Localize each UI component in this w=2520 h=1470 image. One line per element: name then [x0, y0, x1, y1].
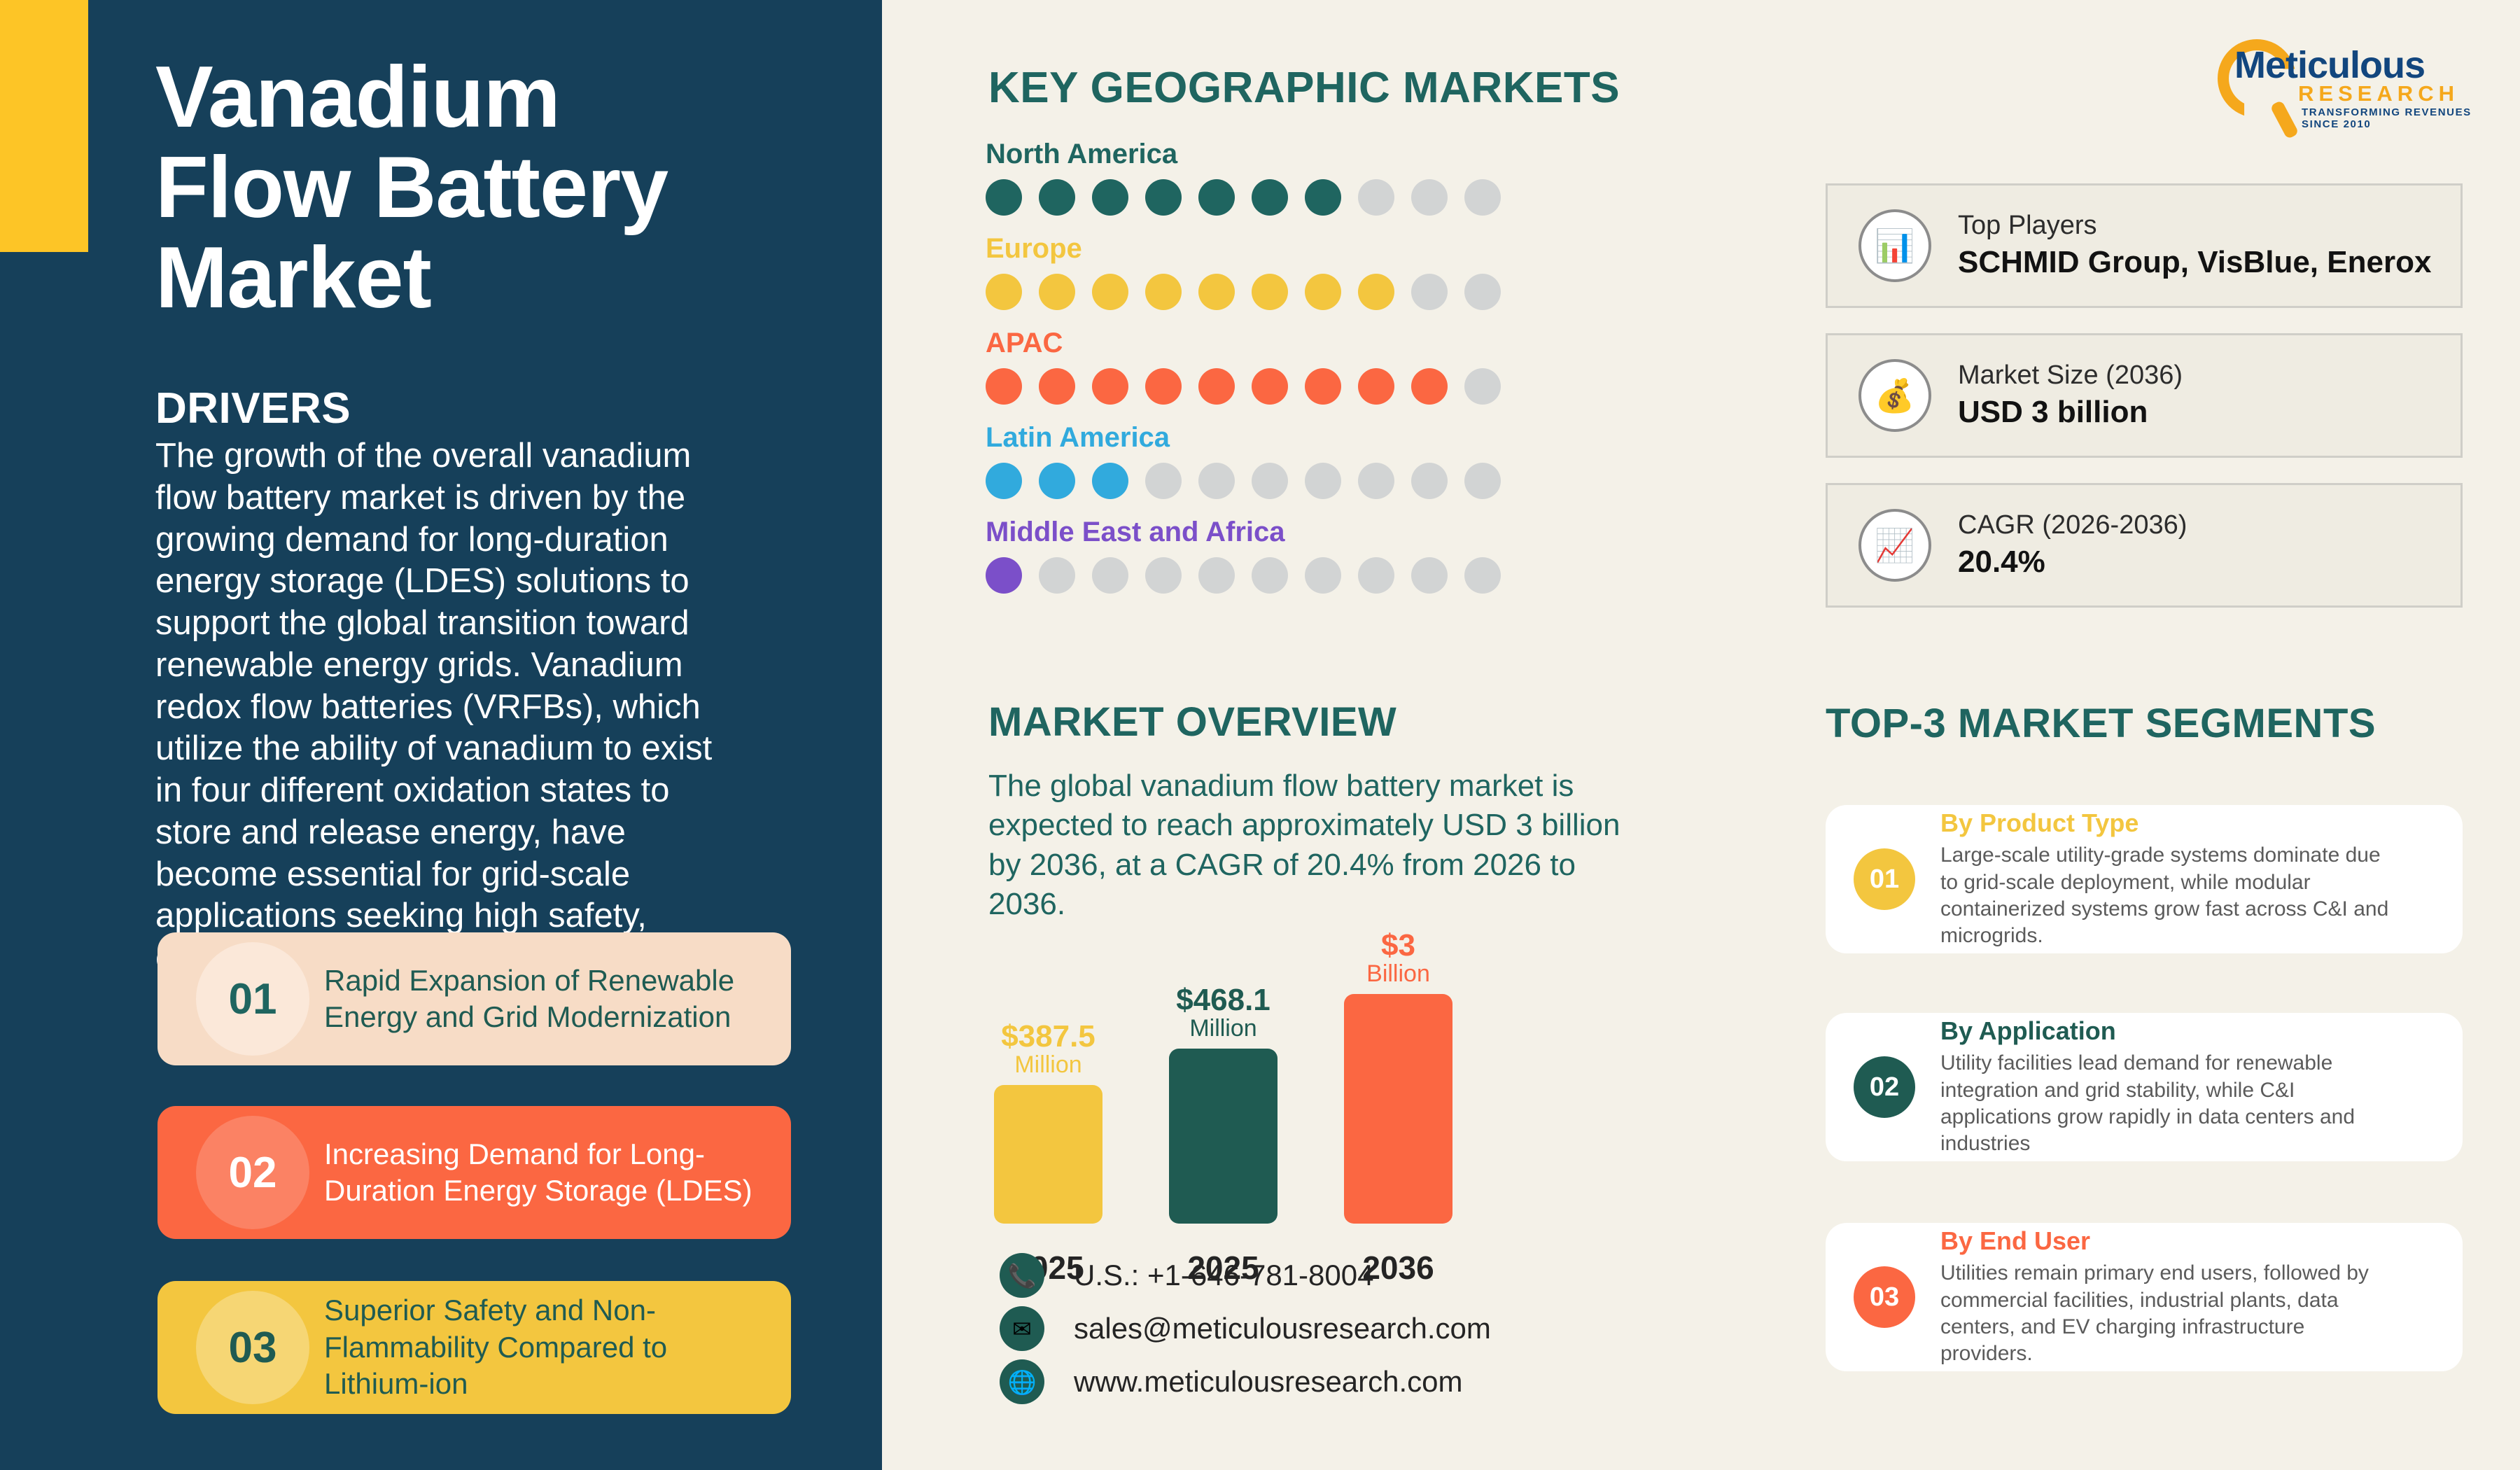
segment-description: Utility facilities lead demand for renew… — [1940, 1050, 2395, 1158]
geo-dot-filled — [1252, 274, 1288, 310]
bar-chart-icon: 📊 — [1858, 209, 1931, 282]
geo-dot-empty — [1411, 557, 1448, 594]
geo-dot-filled — [1305, 274, 1341, 310]
geo-dot-empty — [1252, 463, 1288, 499]
geo-dot-filled — [986, 368, 1022, 405]
driver-number: 03 — [196, 1291, 309, 1404]
drivers-heading: DRIVERS — [155, 384, 351, 433]
geo-dot-empty — [1039, 557, 1075, 594]
geo-dot-empty — [1198, 463, 1235, 499]
geo-dot-filled — [1411, 368, 1448, 405]
stat-card-market-size: 💰 Market Size (2036) USD 3 billion — [1826, 333, 2463, 458]
driver-card[interactable]: 03 Superior Safety and Non-Flammability … — [157, 1281, 791, 1414]
geographic-section-title: KEY GEOGRAPHIC MARKETS — [988, 63, 1620, 113]
driver-number: 02 — [196, 1116, 309, 1229]
bar-group: $3 Billion 2036 — [1344, 994, 1452, 1224]
geo-region-label: APAC — [986, 328, 1616, 359]
phone-icon: 📞 — [1000, 1253, 1044, 1298]
driver-label: Rapid Expansion of Renewable Energy and … — [324, 932, 772, 1065]
geo-dot-empty — [1358, 557, 1394, 594]
segment-card[interactable]: 03 By End User Utilities remain primary … — [1826, 1223, 2463, 1371]
page-title: VanadiumFlow BatteryMarket — [155, 52, 785, 323]
contact-phone-text[interactable]: U.S.: +1-646-781-8004 — [1074, 1259, 1373, 1292]
geo-dot-filled — [1092, 463, 1128, 499]
stat-card-top-players: 📊 Top Players SCHMID Group, VisBlue, Ene… — [1826, 183, 2463, 308]
geo-dot-filled — [1039, 463, 1075, 499]
geo-dot-track — [986, 368, 1616, 405]
overview-body-text: The global vanadium flow battery market … — [988, 766, 1653, 924]
yellow-accent-bar — [0, 0, 88, 252]
stat-value: SCHMID Group, VisBlue, Enerox — [1958, 242, 2431, 282]
email-icon: ✉ — [1000, 1306, 1044, 1351]
money-bag-icon: 💰 — [1858, 359, 1931, 432]
geo-dot-empty — [1198, 557, 1235, 594]
bar-caption: $3 Billion — [1294, 930, 1504, 987]
bar-rect — [1169, 1049, 1277, 1224]
logo-wordmark: Meticulous — [2234, 43, 2425, 87]
contact-row-phone[interactable]: 📞 U.S.: +1-646-781-8004 — [1000, 1253, 1373, 1298]
segment-number: 03 — [1854, 1266, 1915, 1328]
stat-value: 20.4% — [1958, 542, 2187, 582]
geo-dot-filled — [1358, 368, 1394, 405]
geo-dot-filled — [1252, 179, 1288, 216]
geo-dot-track — [986, 274, 1616, 310]
geo-dot-track — [986, 463, 1616, 499]
segment-heading: By End User — [1940, 1226, 2395, 1256]
geo-dot-empty — [1092, 557, 1128, 594]
stat-text-wrap: Market Size (2036) USD 3 billion — [1958, 359, 2183, 433]
stat-label: Market Size (2036) — [1958, 359, 2183, 393]
segment-card[interactable]: 01 By Product Type Large-scale utility-g… — [1826, 805, 2463, 953]
geo-dot-empty — [1252, 557, 1288, 594]
geo-dot-empty — [1464, 368, 1501, 405]
driver-card[interactable]: 01 Rapid Expansion of Renewable Energy a… — [157, 932, 791, 1065]
geo-dot-filled — [986, 274, 1022, 310]
geo-dot-filled — [1039, 368, 1075, 405]
geo-dot-empty — [1464, 274, 1501, 310]
segment-number: 02 — [1854, 1056, 1915, 1118]
segment-number: 01 — [1854, 848, 1915, 910]
geo-dot-track — [986, 557, 1616, 594]
geo-dot-empty — [1464, 557, 1501, 594]
geo-dot-empty — [1145, 557, 1182, 594]
geo-dot-empty — [1358, 179, 1394, 216]
segments-section-title: TOP-3 MARKET SEGMENTS — [1826, 700, 2376, 747]
bar-unit-label: Million — [1119, 1016, 1329, 1042]
geo-dot-empty — [1464, 463, 1501, 499]
geo-dot-empty — [1411, 179, 1448, 216]
stat-label: Top Players — [1958, 209, 2431, 243]
contact-website-text[interactable]: www.meticulousresearch.com — [1074, 1365, 1463, 1399]
stat-value: USD 3 billion — [1958, 392, 2183, 432]
geo-dot-filled — [1358, 274, 1394, 310]
geo-dot-filled — [1145, 274, 1182, 310]
geo-dot-filled — [1145, 179, 1182, 216]
geo-dot-filled — [986, 179, 1022, 216]
geo-dot-empty — [1305, 557, 1341, 594]
segment-heading: By Product Type — [1940, 808, 2395, 838]
geo-region-row: Middle East and Africa — [986, 517, 1616, 594]
stat-text-wrap: Top Players SCHMID Group, VisBlue, Enero… — [1958, 209, 2431, 283]
geo-region-label: Middle East and Africa — [986, 517, 1616, 548]
segment-body: By Product Type Large-scale utility-grad… — [1940, 808, 2395, 950]
geo-dot-filled — [1198, 274, 1235, 310]
logo-subword: RESEARCH — [2298, 81, 2459, 106]
bar-value-label: $3 — [1294, 930, 1504, 962]
magnifier-handle-icon — [2269, 100, 2299, 140]
overview-section-title: MARKET OVERVIEW — [988, 699, 1396, 745]
company-logo[interactable]: Meticulous RESEARCH TRANSFORMING REVENUE… — [2218, 34, 2477, 123]
geo-region-label: Latin America — [986, 422, 1616, 454]
trend-up-icon: 📈 — [1858, 509, 1931, 582]
geo-dot-filled — [1039, 274, 1075, 310]
geo-dot-filled — [1039, 179, 1075, 216]
bar-group: $387.5 Million 2025 — [994, 1085, 1102, 1224]
contact-row-website[interactable]: 🌐 www.meticulousresearch.com — [1000, 1359, 1463, 1404]
geo-dot-filled — [1198, 179, 1235, 216]
bar-group: $468.1 Million 2025 — [1169, 1049, 1277, 1224]
driver-label: Increasing Demand for Long-Duration Ener… — [324, 1106, 772, 1239]
geo-dot-filled — [1305, 179, 1341, 216]
stat-card-cagr: 📈 CAGR (2026-2036) 20.4% — [1826, 483, 2463, 608]
geo-dot-filled — [1092, 368, 1128, 405]
geo-dot-filled — [1252, 368, 1288, 405]
driver-label: Superior Safety and Non-Flammability Com… — [324, 1281, 772, 1414]
bar-caption: $468.1 Million — [1119, 984, 1329, 1042]
geo-dot-filled — [986, 463, 1022, 499]
contact-row-email[interactable]: ✉ sales@meticulousresearch.com — [1000, 1306, 1491, 1351]
geo-dot-filled — [986, 557, 1022, 594]
segment-description: Large-scale utility-grade systems domina… — [1940, 842, 2395, 950]
geo-dot-empty — [1358, 463, 1394, 499]
geo-dot-empty — [1145, 463, 1182, 499]
geo-dot-filled — [1092, 274, 1128, 310]
bar-rect — [994, 1085, 1102, 1224]
geo-region-row: North America — [986, 139, 1616, 216]
bar-unit-label: Million — [944, 1053, 1154, 1078]
driver-card[interactable]: 02 Increasing Demand for Long-Duration E… — [157, 1106, 791, 1239]
market-size-bar-chart: $387.5 Million 2025 $468.1 Million 2025 … — [994, 923, 1540, 1224]
geo-region-row: Latin America — [986, 422, 1616, 499]
geo-dot-empty — [1411, 274, 1448, 310]
geo-dot-track — [986, 179, 1616, 216]
geo-region-row: Europe — [986, 233, 1616, 310]
segment-description: Utilities remain primary end users, foll… — [1940, 1260, 2395, 1368]
driver-number: 01 — [196, 942, 309, 1056]
segment-body: By Application Utility facilities lead d… — [1940, 1016, 2395, 1158]
bar-value-label: $468.1 — [1119, 984, 1329, 1016]
segment-body: By End User Utilities remain primary end… — [1940, 1226, 2395, 1368]
geo-region-label: North America — [986, 139, 1616, 170]
contact-email-text[interactable]: sales@meticulousresearch.com — [1074, 1312, 1491, 1345]
geo-dot-empty — [1464, 179, 1501, 216]
globe-icon: 🌐 — [1000, 1359, 1044, 1404]
segment-heading: By Application — [1940, 1016, 2395, 1046]
geo-dot-filled — [1092, 179, 1128, 216]
geo-region-label: Europe — [986, 233, 1616, 265]
geo-region-row: APAC — [986, 328, 1616, 405]
segment-card[interactable]: 02 By Application Utility facilities lea… — [1826, 1013, 2463, 1161]
geo-dot-filled — [1198, 368, 1235, 405]
logo-tagline: TRANSFORMING REVENUES SINCE 2010 — [2302, 106, 2477, 130]
geo-dot-empty — [1305, 463, 1341, 499]
bar-rect — [1344, 994, 1452, 1224]
geo-dot-empty — [1411, 463, 1448, 499]
bar-unit-label: Billion — [1294, 962, 1504, 987]
stat-text-wrap: CAGR (2026-2036) 20.4% — [1958, 509, 2187, 582]
geo-dot-filled — [1305, 368, 1341, 405]
geo-dot-filled — [1145, 368, 1182, 405]
stat-label: CAGR (2026-2036) — [1958, 509, 2187, 542]
